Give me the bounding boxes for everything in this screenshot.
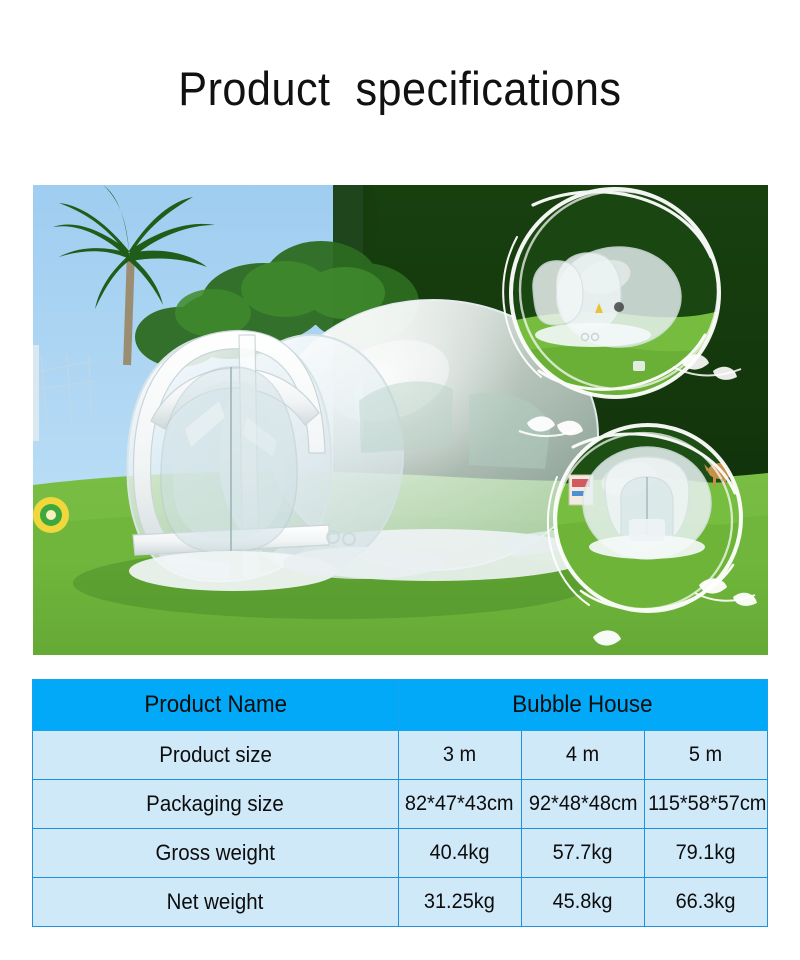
bubble-house-product-photo <box>33 185 768 655</box>
header-cell-product-value: Bubble House <box>398 680 768 731</box>
cell-product-size-3m: 3 m <box>398 731 521 780</box>
table-row: Product size 3 m 4 m 5 m <box>33 731 768 780</box>
table-row: Net weight 31.25kg 45.8kg 66.3kg <box>33 878 768 927</box>
cell-gross-weight-5m: 79.1kg <box>644 829 767 878</box>
cell-gross-weight-4m: 57.7kg <box>521 829 644 878</box>
cell-net-weight-4m: 45.8kg <box>521 878 644 927</box>
cell-product-size-5m: 5 m <box>644 731 767 780</box>
page-title-text: Product specifications <box>178 62 621 116</box>
page-title: Product specifications <box>0 62 800 116</box>
row-label-gross-weight: Gross weight <box>33 829 399 878</box>
cell-packaging-size-5m: 115*58*57cm <box>644 780 767 829</box>
table-header-row: Product Name Bubble House <box>33 680 768 731</box>
cell-gross-weight-3m: 40.4kg <box>398 829 521 878</box>
row-label-packaging-size: Packaging size <box>33 780 399 829</box>
cell-packaging-size-3m: 82*47*43cm <box>398 780 521 829</box>
product-specification-table: Product Name Bubble House Product size 3… <box>32 679 768 927</box>
cell-net-weight-3m: 31.25kg <box>398 878 521 927</box>
cell-product-size-4m: 4 m <box>521 731 644 780</box>
product-photo-illustration <box>33 185 768 655</box>
cell-net-weight-5m: 66.3kg <box>644 878 767 927</box>
cell-packaging-size-4m: 92*48*48cm <box>521 780 644 829</box>
row-label-net-weight: Net weight <box>33 878 399 927</box>
table-row: Packaging size 82*47*43cm 92*48*48cm 115… <box>33 780 768 829</box>
table-row: Gross weight 40.4kg 57.7kg 79.1kg <box>33 829 768 878</box>
lawn-toy <box>33 497 69 533</box>
product-spec-page: Product specifications <box>0 0 800 960</box>
header-cell-product-name: Product Name <box>33 680 399 731</box>
row-label-product-size: Product size <box>33 731 399 780</box>
